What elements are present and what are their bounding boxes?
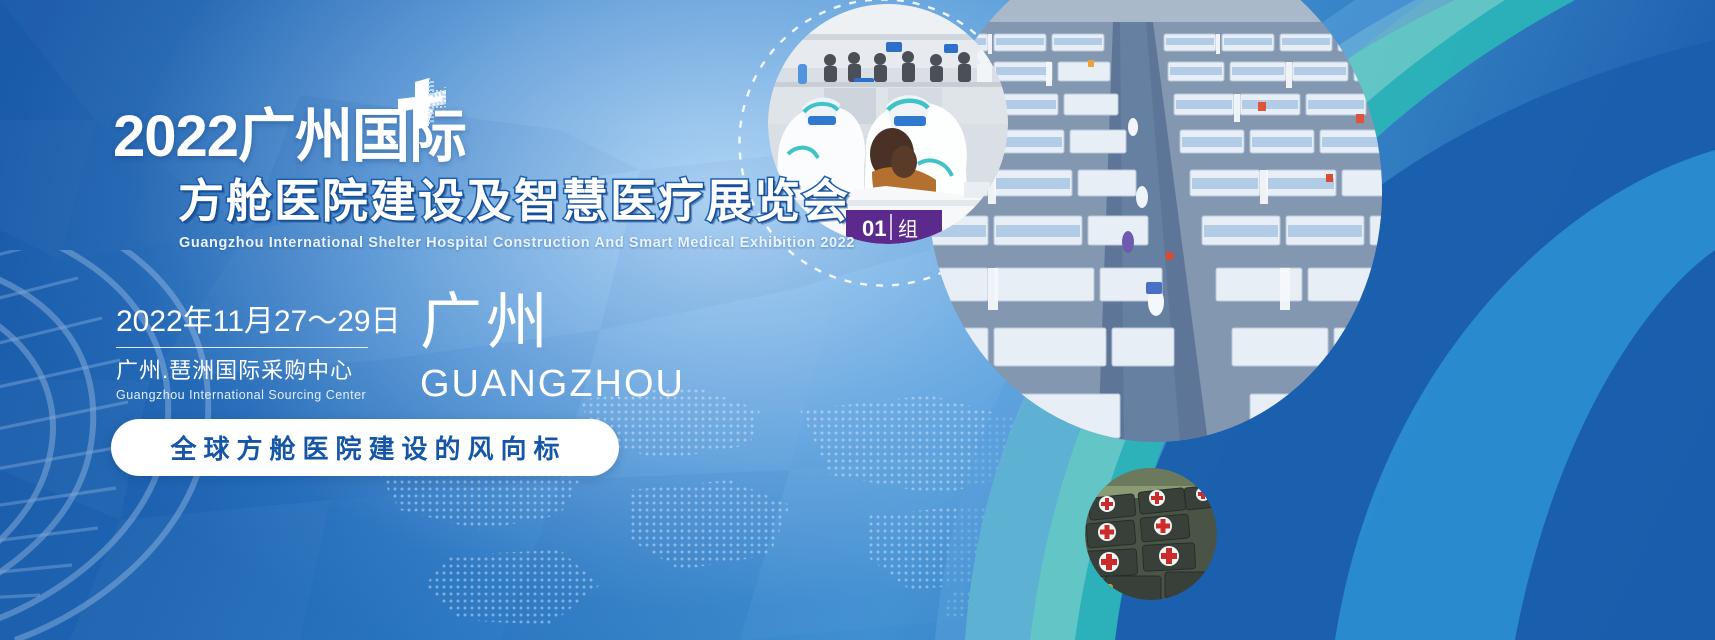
venue-name-cn: 广州.琶洲国际采购中心 [116, 353, 374, 385]
page-title-cn-line2: 方舱医院建设及智慧医疗展览会 [178, 178, 850, 224]
slogan-text: 全球方舱医院建设的风向标 [163, 429, 566, 466]
event-date: 2022年11月27～29日 [116, 303, 374, 341]
city-name-cn: 广州 [420, 292, 685, 354]
medical-field-cases-photo [1085, 468, 1217, 600]
medical-cross-icon [396, 78, 448, 136]
venue-name-en: Guangzhou International Sourcing Center [116, 388, 374, 402]
svg-text:01: 01 [862, 216, 886, 241]
event-banner: 01 组 [0, 0, 1715, 640]
city-name-en: GUANGZHOU [420, 365, 685, 403]
slogan-pill[interactable]: 全球方舱医院建设的风向标 [111, 419, 619, 476]
page-subtitle-en: Guangzhou International Shelter Hospital… [179, 235, 855, 251]
svg-text:组: 组 [898, 218, 918, 241]
city-block: 广州 GUANGZHOU [420, 292, 685, 403]
date-venue-block: 2022年11月27～29日 广州.琶洲国际采购中心 Guangzhou Int… [116, 303, 374, 402]
divider-rule [116, 347, 368, 349]
